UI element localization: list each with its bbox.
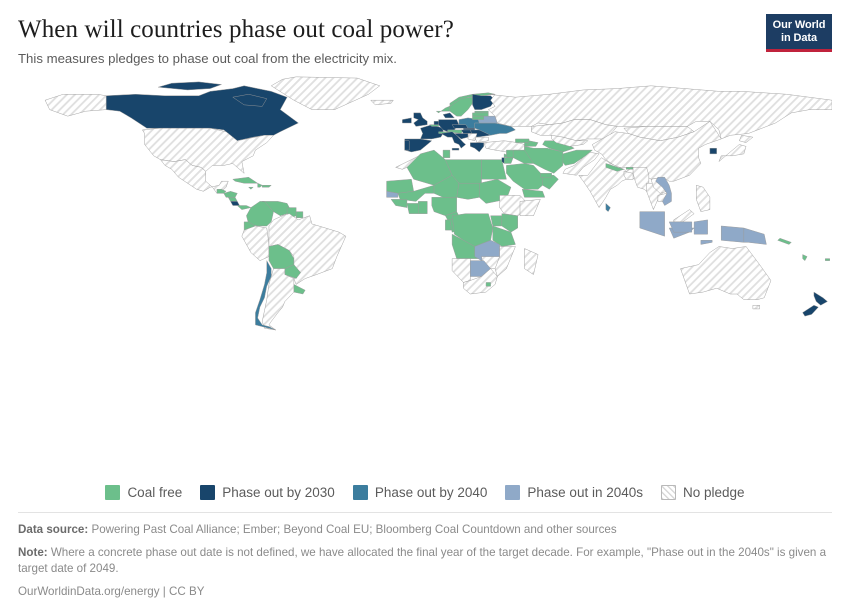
- legend-item-coal-free[interactable]: Coal free: [105, 485, 182, 500]
- legend-item-phase-out-2040[interactable]: Phase out by 2040: [353, 485, 488, 500]
- country-costa-rica[interactable]: Costa Rica — Phase out by 2030: [231, 201, 240, 205]
- legend-item-phase-out-2030[interactable]: Phase out by 2030: [200, 485, 335, 500]
- country-lesotho[interactable]: Lesotho — Coal free: [486, 282, 491, 286]
- country-uganda[interactable]: Uganda — Coal free: [491, 215, 502, 225]
- country-madagascar[interactable]: Madagascar — No pledge: [524, 248, 538, 274]
- country-guinea[interactable]: Guinea — Coal free: [391, 199, 407, 207]
- country-papua-new-guinea[interactable]: Papua New Guinea — Phase out in 2040s: [744, 228, 767, 244]
- legend-label-phase-out-2040s: Phase out in 2040s: [527, 485, 643, 500]
- country-united-arab-emirates[interactable]: United Arab Emirates — Coal free: [540, 173, 551, 177]
- legend-item-phase-out-2040s[interactable]: Phase out in 2040s: [505, 485, 643, 500]
- country-jamaica[interactable]: Jamaica — Coal free: [249, 187, 254, 189]
- country-cuba[interactable]: Cuba — Coal free: [233, 177, 258, 183]
- country-united-states[interactable]: United States — No pledge: [45, 94, 106, 116]
- chart-header: When will countries phase out coal power…: [18, 16, 832, 68]
- map-legend: Coal free Phase out by 2030 Phase out by…: [18, 479, 832, 512]
- legend-label-no-pledge: No pledge: [683, 485, 745, 500]
- country-namibia[interactable]: Namibia — No pledge: [452, 258, 470, 282]
- country-lithuania[interactable]: Lithuania — Coal free: [472, 116, 483, 119]
- country-jordan[interactable]: Jordan — Coal free: [504, 157, 513, 163]
- country-south-korea[interactable]: South Korea — Phase out by 2030: [710, 148, 717, 154]
- country-united-kingdom[interactable]: United Kingdom — Phase out by 2030: [414, 112, 428, 126]
- country-slovakia[interactable]: Slovakia — Phase out by 2030: [463, 128, 474, 130]
- note-label: Note:: [18, 546, 48, 559]
- country-bhutan[interactable]: Bhutan — Coal free: [626, 167, 633, 169]
- country-honduras[interactable]: Honduras — Coal free: [224, 191, 238, 197]
- country-kenya[interactable]: Kenya — Coal free: [502, 213, 518, 231]
- country-greece[interactable]: Greece — Phase out by 2030: [470, 142, 484, 151]
- country-uruguay[interactable]: Uruguay — Coal free: [294, 284, 305, 294]
- country-new-zealand[interactable]: New Zealand — Phase out by 2030: [814, 292, 828, 305]
- country-japan[interactable]: Japan — No pledge: [719, 144, 746, 161]
- country-new-zealand[interactable]: New Zealand — Phase out by 2030: [803, 305, 819, 316]
- country-latvia[interactable]: Latvia — Coal free: [472, 112, 488, 115]
- map-svg: Greenland — No pledgeCanada — Phase out …: [18, 74, 832, 480]
- chart-footer: Data source: Powering Past Coal Alliance…: [18, 512, 832, 600]
- legend-label-phase-out-2030: Phase out by 2030: [222, 485, 335, 500]
- country-tunisia[interactable]: Tunisia — Coal free: [443, 150, 450, 158]
- note-line: Note: Where a concrete phase out date is…: [18, 545, 832, 578]
- legend-swatch-no-pledge: [661, 485, 676, 500]
- country-japan[interactable]: Japan — No pledge: [739, 135, 753, 142]
- country-dominican-rep-[interactable]: Dominican Rep. — Coal free: [262, 185, 271, 187]
- country-australia[interactable]: Australia — No pledge: [753, 305, 760, 309]
- data-source-line: Data source: Powering Past Coal Alliance…: [18, 522, 832, 538]
- country-yemen[interactable]: Yemen — Coal free: [522, 189, 545, 197]
- country-panama[interactable]: Panama — Coal free: [237, 205, 251, 209]
- data-source-label: Data source:: [18, 523, 88, 536]
- country-philippines[interactable]: Philippines — No pledge: [696, 185, 710, 211]
- country-solomon-islands[interactable]: Solomon Islands — Coal free: [778, 238, 792, 244]
- world-choropleth-map[interactable]: Greenland — No pledgeCanada — Phase out …: [18, 74, 832, 480]
- logo-line-1: Our World: [770, 19, 828, 32]
- country-canada[interactable]: Canada — Phase out by 2030: [158, 81, 221, 89]
- country-indonesia[interactable]: Indonesia — Phase out in 2040s: [640, 211, 665, 236]
- country-greenland[interactable]: Greenland — No pledge: [271, 76, 380, 109]
- data-source-text: Powering Past Coal Alliance; Ember; Beyo…: [88, 523, 616, 536]
- country-malaysia[interactable]: Malaysia — No pledge: [674, 209, 694, 221]
- license-line[interactable]: OurWorldinData.org/energy | CC BY: [18, 584, 832, 600]
- note-text: Where a concrete phase out date is not d…: [18, 546, 826, 575]
- country-ireland[interactable]: Ireland — Phase out by 2030: [402, 117, 411, 122]
- country-czechia[interactable]: Czechia — Phase out by 2030: [452, 124, 468, 128]
- country-estonia[interactable]: Estonia — Coal free: [475, 111, 489, 113]
- country-bulgaria[interactable]: Bulgaria — No pledge: [475, 137, 489, 142]
- country-mauritania[interactable]: Mauritania — Coal free: [387, 179, 414, 193]
- country-portugal[interactable]: Portugal — Phase out by 2030: [405, 140, 410, 149]
- country-chad[interactable]: Chad — Coal free: [457, 183, 480, 199]
- country-peru[interactable]: Peru — No pledge: [242, 225, 269, 260]
- country-nicaragua[interactable]: Nicaragua — Coal free: [228, 197, 237, 201]
- country-suriname[interactable]: Suriname — Coal free: [296, 211, 303, 217]
- country-iceland[interactable]: Iceland — No pledge: [371, 100, 394, 105]
- legend-label-phase-out-2040: Phase out by 2040: [375, 485, 488, 500]
- legend-swatch-phase-out-2040s: [505, 485, 520, 500]
- country-vanuatu[interactable]: Vanuatu — Coal free: [803, 254, 807, 260]
- legend-swatch-phase-out-2040: [353, 485, 368, 500]
- legend-swatch-phase-out-2030: [200, 485, 215, 500]
- country-ghana[interactable]: Ghana — Coal free: [418, 201, 427, 213]
- country-egypt[interactable]: Egypt — Coal free: [481, 159, 506, 179]
- logo-line-2: in Data: [770, 32, 828, 45]
- country-indonesia[interactable]: Indonesia — Phase out in 2040s: [721, 225, 744, 241]
- country-haiti[interactable]: Haiti — Coal free: [258, 183, 263, 187]
- legend-item-no-pledge[interactable]: No pledge: [661, 485, 745, 500]
- country-italy[interactable]: Italy — Phase out by 2030: [452, 148, 459, 150]
- country-indonesia[interactable]: Indonesia — Phase out in 2040s: [701, 240, 712, 244]
- chart-root: When will countries phase out coal power…: [0, 0, 850, 600]
- page-title: When will countries phase out coal power…: [18, 16, 742, 44]
- country-indonesia[interactable]: Indonesia — Phase out in 2040s: [694, 219, 708, 233]
- country-georgia[interactable]: Georgia — Coal free: [515, 138, 529, 142]
- country-sri-lanka[interactable]: Sri Lanka — Phase out by 2040: [606, 203, 611, 211]
- legend-swatch-coal-free: [105, 485, 120, 500]
- country-denmark[interactable]: Denmark — Phase out by 2030: [443, 112, 454, 117]
- page-subtitle: This measures pledges to phase out coal …: [18, 51, 742, 68]
- country-ivory-coast[interactable]: Ivory Coast — Coal free: [407, 203, 418, 213]
- country-somalia[interactable]: Somalia — No pledge: [520, 199, 540, 215]
- legend-label-coal-free: Coal free: [127, 485, 182, 500]
- country-australia[interactable]: Australia — No pledge: [681, 246, 771, 299]
- country-guatemala[interactable]: Guatemala — Coal free: [217, 189, 226, 193]
- country-fiji[interactable]: Fiji — Coal free: [825, 258, 829, 260]
- country-azerbaijan[interactable]: Azerbaijan — Coal free: [527, 140, 538, 146]
- our-world-in-data-logo[interactable]: Our World in Data: [766, 14, 832, 52]
